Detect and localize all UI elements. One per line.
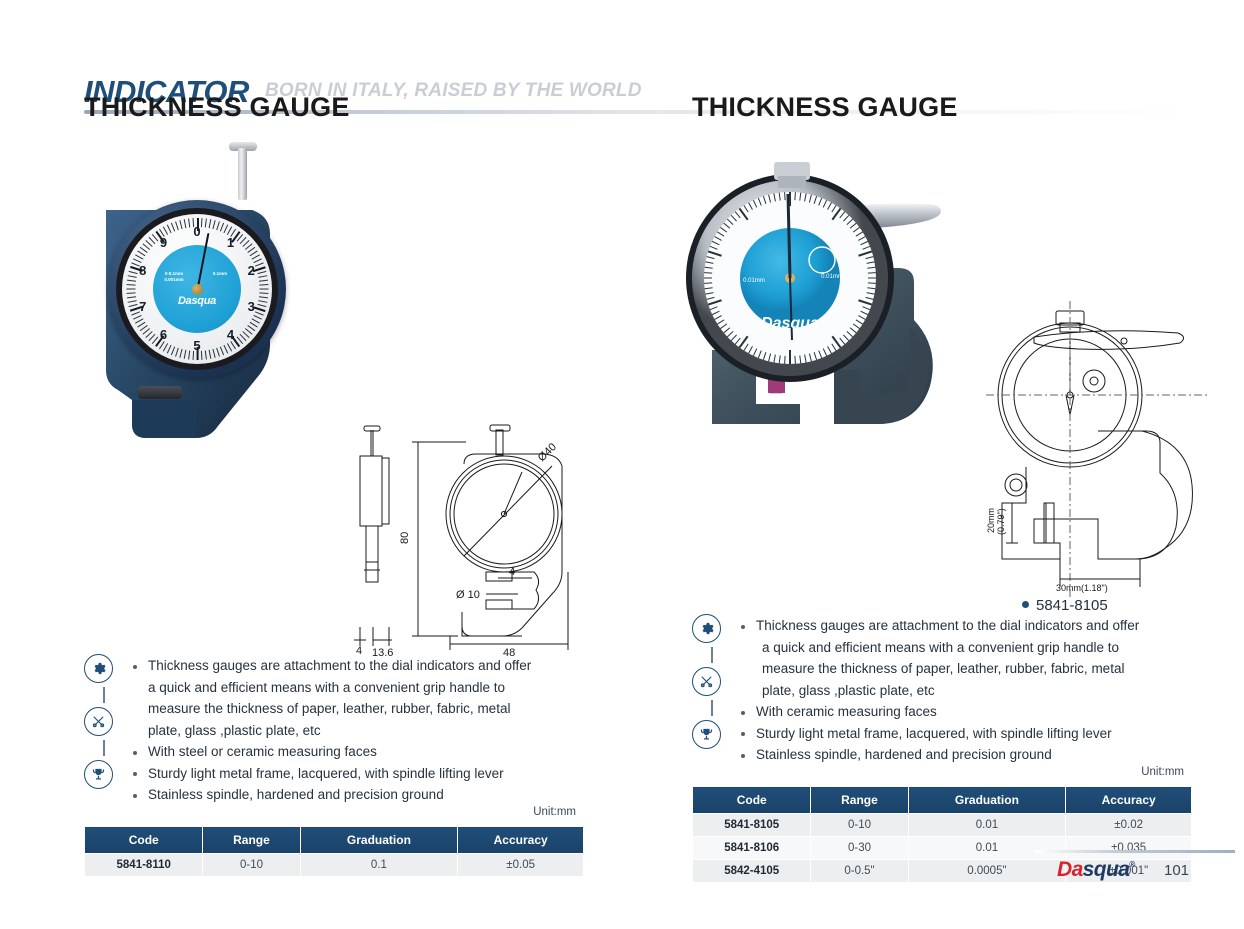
right-unit-label: Unit:mm (1141, 766, 1184, 778)
dial-number: 0 (190, 224, 204, 239)
left-product-photo: 0123456789 0-0.1mm 0.001mm 0.1mm Dasqua (84, 138, 504, 468)
cell-range: 0-10 (811, 814, 908, 837)
left-spec-table: Code Range Graduation Accuracy 5841-8110… (84, 826, 584, 877)
left-unit-label: Unit:mm (533, 806, 576, 818)
dial-tick (795, 192, 796, 200)
dial-tick (127, 289, 136, 290)
logo-text-blue: squa (1083, 858, 1130, 881)
dial-tick (127, 292, 136, 294)
dial-tick (259, 284, 268, 286)
cell-graduation: 0.0005" (908, 860, 1066, 883)
cell-accuracy: ±0.02 (1066, 814, 1192, 837)
right-icon-column (692, 614, 732, 749)
bullet-item: Thickness gauges are attachment to the d… (128, 656, 578, 677)
caption-code: 5841-8105 (1036, 597, 1108, 614)
dial-tick (212, 220, 215, 229)
left-icon-column (84, 654, 124, 789)
dial-tick (216, 221, 220, 230)
crossed-tools-icon (692, 667, 721, 696)
cell-graduation: 0.01 (908, 814, 1066, 837)
cell-range: 0-0.5" (811, 860, 908, 883)
column-range: Range (203, 827, 300, 854)
registered-mark: ® (1129, 860, 1134, 869)
dial-tick (257, 271, 266, 274)
dial-tick (171, 346, 175, 355)
column-accuracy: Accuracy (458, 827, 584, 854)
dial-tick (171, 223, 175, 232)
table-row: 5841-8105 0-10 0.01 ±0.02 (693, 814, 1192, 837)
column-code: Code (693, 787, 811, 814)
cell-code: 5841-8105 (693, 814, 811, 837)
cell-accuracy: ±0.035 (1066, 837, 1192, 860)
column-graduation: Graduation (908, 787, 1066, 814)
table-row: 5841-8110 0-10 0.1 ±0.05 (85, 854, 584, 877)
left-product-title: THICKNESS GAUGE (84, 92, 654, 123)
dial-face: 0123456789 0-0.1mm 0.001mm 0.1mm Dasqua (122, 214, 272, 364)
table-header-row: Code Range Graduation Accuracy (693, 787, 1192, 814)
right-dial-left-marking: 0.01mm (743, 278, 765, 284)
table-header-row: Code Range Graduation Accuracy (85, 827, 584, 854)
bullet-item-cont: measure the thickness of paper, leather,… (736, 659, 1186, 680)
dial-number: 8 (136, 263, 150, 278)
dim-anvil: Ø 10 (456, 589, 480, 601)
right-technical-drawing: 20mm (0.79") 30mm(1.18") (982, 297, 1212, 607)
icon-connector (103, 687, 105, 703)
right-bullet-list: Thickness gauges are attachment to the d… (736, 616, 1186, 767)
dial-number: 1 (224, 235, 238, 250)
dial-number: 5 (190, 338, 204, 353)
dial-tick (175, 348, 179, 357)
icon-connector (103, 740, 105, 756)
dial-tick (212, 349, 215, 358)
dial-tick (205, 350, 207, 359)
dim-gap: 4 (509, 566, 515, 578)
bullet-item-cont: measure the thickness of paper, leather,… (128, 699, 578, 720)
dial-tick (184, 350, 187, 359)
left-bullet-list: Thickness gauges are attachment to the d… (128, 656, 578, 807)
column-graduation: Graduation (300, 827, 458, 854)
bullet-item-cont: plate, glass ,plastic plate, etc (128, 721, 578, 742)
dial-tick (260, 289, 269, 290)
dial-tick (704, 273, 712, 274)
dial-tick (127, 280, 136, 282)
cell-graduation: 0.1 (300, 854, 458, 877)
dial-tick (209, 350, 212, 359)
column-range: Range (811, 787, 908, 814)
cell-accuracy: ±0.05 (458, 854, 584, 877)
cell-graduation: 0.01 (908, 837, 1066, 860)
dial-tick (785, 192, 786, 200)
right-product-title: THICKNESS GAUGE (692, 92, 1244, 123)
right-product-photo: Dasqua 0.01mm 0.01mm (682, 132, 982, 462)
dim-diameter-dial: Ø40 (536, 441, 559, 464)
dial-tick (257, 304, 266, 307)
dial-tick (868, 273, 876, 274)
dial-number: 9 (156, 235, 170, 250)
cell-range: 0-30 (811, 837, 908, 860)
catalog-page: INDICATOR BORN IN ITALY, RAISED BY THE W… (0, 0, 1244, 929)
dial-tick (167, 225, 172, 234)
dial-number: 6 (156, 327, 170, 342)
cell-code: 5841-8106 (693, 837, 811, 860)
dial-tick (258, 275, 267, 278)
icon-connector (711, 647, 713, 663)
left-technical-drawing: Ø40 80 Ø 10 4 48 4 13.6 (346, 422, 646, 657)
dasqua-logo: Dasqua® (1057, 858, 1135, 882)
dial-tick (184, 219, 187, 228)
bullet-item-cont: a quick and efficient means with a conve… (128, 678, 578, 699)
dial-ring: 0123456789 0-0.1mm 0.001mm 0.1mm Dasqua (116, 208, 278, 370)
bullet-item: Stainless spindle, hardened and precisio… (128, 785, 578, 806)
page-header: INDICATOR BORN IN ITALY, RAISED BY THE W… (0, 36, 1244, 86)
cell-code: 5842-4105 (693, 860, 811, 883)
right-dial-brand: Dasqua (761, 315, 819, 332)
bullet-item: Sturdy light metal frame, lacquered, wit… (736, 724, 1186, 745)
page-number: 101 (1164, 862, 1189, 879)
dial-right-marking: 0.1mm (206, 271, 234, 277)
dial-number: 2 (244, 263, 258, 278)
logo-text-red: Da (1057, 858, 1083, 881)
dial-tick (258, 300, 267, 303)
dim-vertical-mm: 20mm (986, 508, 996, 533)
bullet-item: Thickness gauges are attachment to the d… (736, 616, 1186, 637)
crossed-tools-icon (84, 707, 113, 736)
trophy-icon (692, 720, 721, 749)
right-dial-right-marking: 0.01mm (821, 274, 843, 280)
dial-brand-label: Dasqua (153, 295, 241, 307)
column-accuracy: Accuracy (1066, 787, 1192, 814)
bullet-item: With ceramic measuring faces (736, 702, 1186, 723)
dial-tick (785, 356, 786, 364)
table-row: 5841-8106 0-30 0.01 ±0.035 (693, 837, 1192, 860)
bullet-item: Stainless spindle, hardened and precisio… (736, 745, 1186, 766)
bullet-item: Sturdy light metal frame, lacquered, wit… (128, 764, 578, 785)
gear-icon (692, 614, 721, 643)
dial-tick (209, 219, 212, 228)
right-product-panel: THICKNESS GAUGE (692, 92, 1244, 882)
bullet-item: With steel or ceramic measuring faces (128, 742, 578, 763)
dial-tick (179, 220, 182, 229)
dial-number: 3 (244, 299, 258, 314)
dial-tick (127, 284, 136, 286)
dial-left-marking: 0-0.1mm 0.001mm (160, 271, 188, 283)
right-drawing-caption: 5841-8105 (1022, 597, 1108, 614)
dim-horizontal: 30mm(1.18") (1056, 583, 1108, 593)
dim-height: 80 (399, 532, 411, 544)
bullet-item-cont: plate, glass ,plastic plate, etc (736, 681, 1186, 702)
left-product-panel: THICKNESS GAUGE (84, 92, 654, 882)
cell-range: 0-10 (203, 854, 300, 877)
dial-bezel: 0123456789 0-0.1mm 0.001mm 0.1mm Dasqua (108, 200, 286, 378)
gauge-anvil (138, 386, 182, 399)
footer-divider (1035, 850, 1235, 853)
dim-vertical-in: (0.79") (996, 508, 1006, 535)
dial-tick (795, 356, 796, 364)
dial-center-pin (192, 284, 203, 295)
dial-tick (220, 346, 224, 355)
column-code: Code (85, 827, 203, 854)
bullet-item-cont: a quick and efficient means with a conve… (736, 638, 1186, 659)
dial-tick (259, 292, 268, 294)
dial-tick (868, 283, 876, 284)
dial-number: 4 (224, 327, 238, 342)
gear-icon (84, 654, 113, 683)
dial-tick (259, 296, 268, 298)
trophy-icon (84, 760, 113, 789)
dial-tick (175, 221, 179, 230)
icon-connector (711, 700, 713, 716)
dial-tick (205, 218, 207, 227)
dial-tick (179, 349, 182, 358)
dial-number: 7 (136, 299, 150, 314)
dial-tick (704, 283, 712, 284)
dial-tick (127, 296, 136, 298)
dial-tick (216, 348, 220, 357)
cell-code: 5841-8110 (85, 854, 203, 877)
dial-tick (133, 258, 142, 263)
dial-tick (259, 280, 268, 282)
caption-bullet-icon (1022, 601, 1029, 608)
